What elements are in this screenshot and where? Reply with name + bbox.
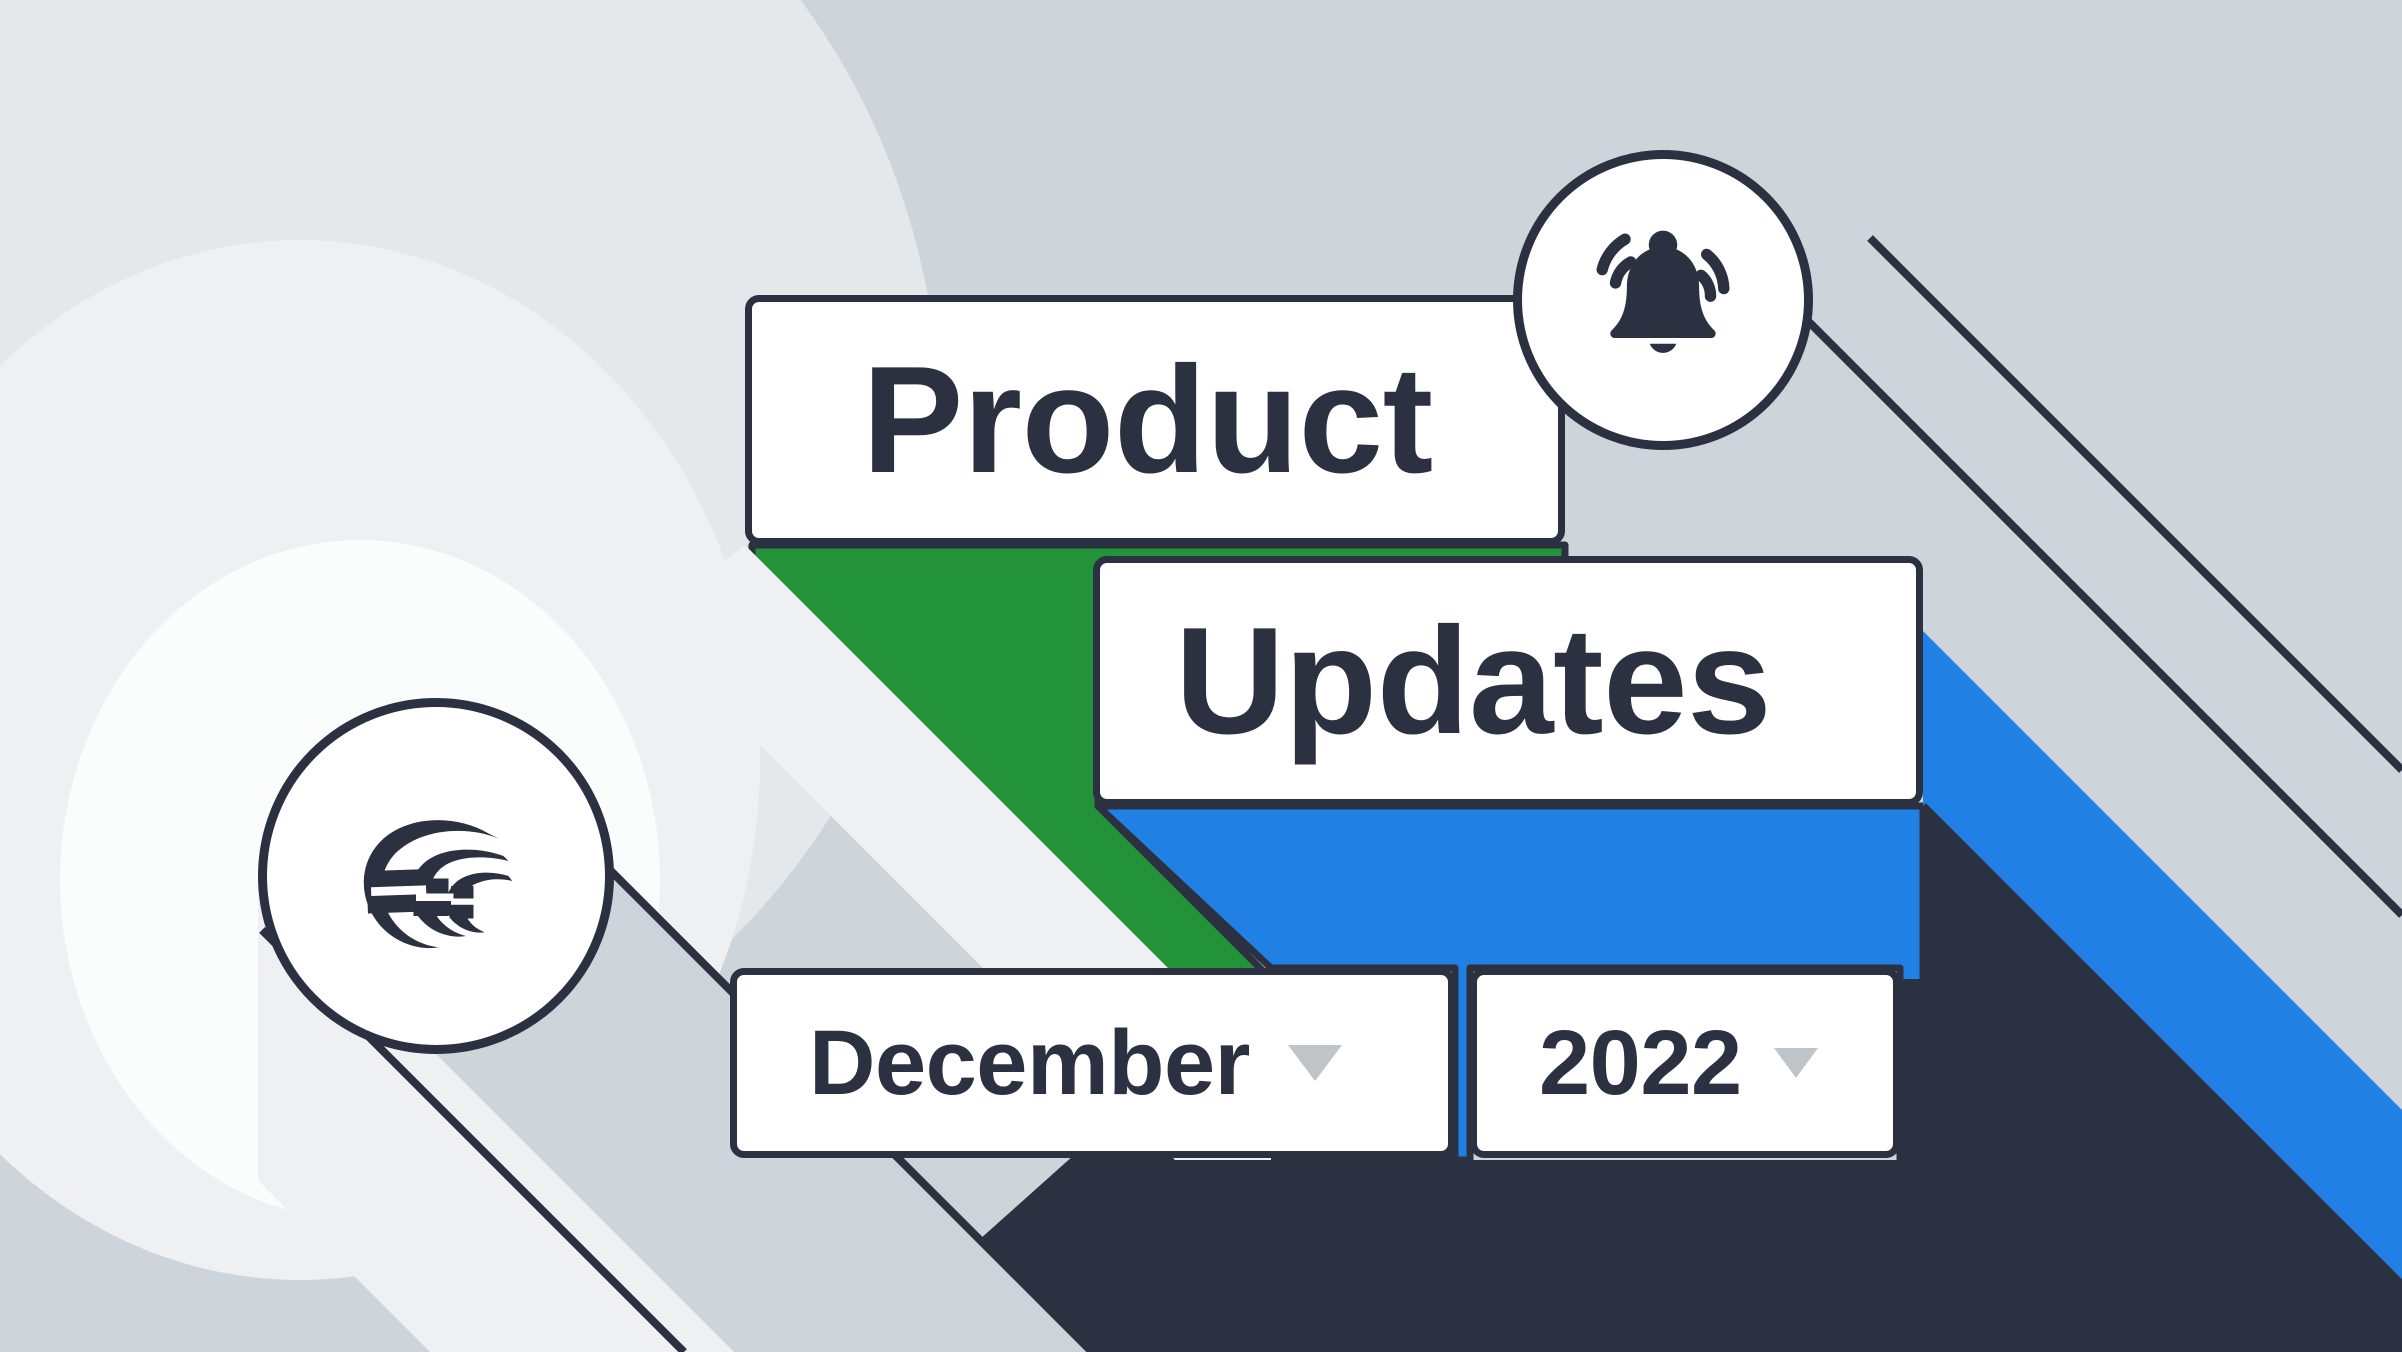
wave-swoosh-logo-icon	[311, 751, 561, 1001]
title-chip-product: Product	[745, 295, 1565, 545]
title-line-1: Product	[862, 344, 1433, 496]
chevron-down-icon[interactable]	[1288, 1045, 1342, 1081]
title-chip-updates: Updates	[1093, 556, 1923, 806]
chevron-down-icon[interactable]	[1774, 1048, 1818, 1078]
title-line-2: Updates	[1175, 605, 1771, 757]
year-label: 2022	[1539, 1017, 1742, 1109]
notification-bell-icon	[1568, 205, 1758, 395]
year-dropdown[interactable]: 2022	[1470, 968, 1900, 1158]
month-dropdown[interactable]: December	[730, 968, 1455, 1158]
brand-logo-badge[interactable]	[258, 698, 614, 1054]
notification-badge[interactable]	[1513, 150, 1813, 450]
product-updates-banner: Product Updates December 2022	[0, 0, 2402, 1352]
month-label: December	[809, 1017, 1250, 1109]
